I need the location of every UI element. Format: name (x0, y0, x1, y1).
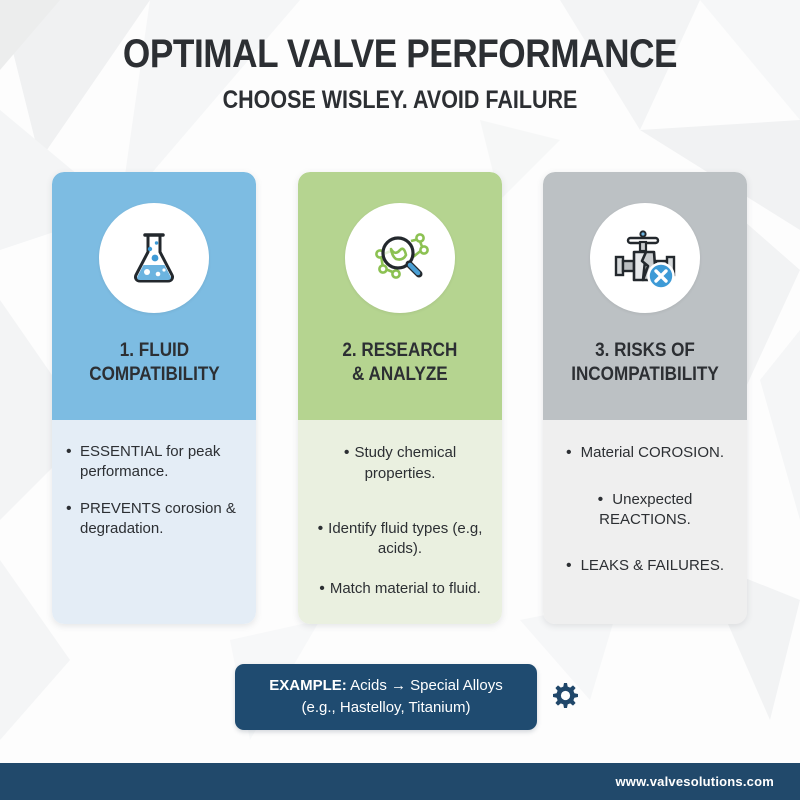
card-title: 1. FLUID COMPATIBILITY (89, 339, 219, 387)
card-fluid-compatibility[interactable]: 1. FLUID COMPATIBILITY ESSENTIAL for pea… (52, 172, 256, 624)
icon-badge (590, 203, 700, 313)
gear-icon (548, 681, 580, 718)
list-item: PREVENTS corosion & degradation. (66, 499, 242, 540)
infographic-canvas: OPTIMAL VALVE PERFORMANCE CHOOSE WISLEY.… (0, 0, 800, 800)
list-item: Identify fluid types (e.g, acids). (312, 518, 488, 560)
page-title: OPTIMAL VALVE PERFORMANCE (48, 34, 752, 74)
bullet-list: Material COROSION. Unexpected REACTIONS.… (557, 442, 733, 577)
example-note: (e.g., Hastelloy, Titanium) (302, 699, 471, 716)
card-risks-incompatibility[interactable]: 3. RISKS OF INCOMPATIBILITY Material COR… (543, 172, 747, 624)
example-label: EXAMPLE: (269, 677, 347, 694)
card-header: 2. RESEARCH & ANALYZE (298, 172, 502, 420)
list-item: Material COROSION. (557, 442, 733, 464)
header: OPTIMAL VALVE PERFORMANCE CHOOSE WISLEY.… (0, 34, 800, 115)
footer-bar: www.valvesolutions.com (0, 763, 800, 800)
card-title: 2. RESEARCH & ANALYZE (343, 339, 458, 387)
example-value: Acids → Special Alloys (347, 677, 503, 694)
flask-icon (123, 227, 185, 289)
broken-valve-icon (610, 225, 680, 291)
example-banner-row: EXAMPLE: Acids → Special Alloys(e.g., Ha… (0, 664, 800, 736)
list-item: Study chemical properties. (312, 442, 488, 484)
bullet-list: Study chemical properties. Identify flui… (312, 442, 488, 599)
icon-badge (99, 203, 209, 313)
magnifier-molecule-icon (367, 225, 433, 291)
card-body: Study chemical properties. Identify flui… (298, 420, 502, 624)
card-body: ESSENTIAL for peak performance. PREVENTS… (52, 420, 256, 624)
page-subtitle: CHOOSE WISLEY. AVOID FAILURE (56, 86, 744, 115)
card-research-analyze[interactable]: 2. RESEARCH & ANALYZE Study chemical pro… (298, 172, 502, 624)
footer-url[interactable]: www.valvesolutions.com (615, 774, 800, 789)
card-body: Material COROSION. Unexpected REACTIONS.… (543, 420, 747, 624)
list-item: LEAKS & FAILURES. (557, 555, 733, 577)
card-header: 1. FLUID COMPATIBILITY (52, 172, 256, 420)
example-banner-text: EXAMPLE: Acids → Special Alloys(e.g., Ha… (269, 675, 502, 719)
list-item: ESSENTIAL for peak performance. (66, 442, 242, 483)
list-item: Unexpected REACTIONS. (557, 489, 733, 531)
list-item: Match material to fluid. (312, 578, 488, 600)
card-title: 3. RISKS OF INCOMPATIBILITY (571, 339, 719, 387)
icon-badge (345, 203, 455, 313)
example-banner[interactable]: EXAMPLE: Acids → Special Alloys(e.g., Ha… (235, 664, 537, 730)
card-header: 3. RISKS OF INCOMPATIBILITY (543, 172, 747, 420)
bullet-list: ESSENTIAL for peak performance. PREVENTS… (66, 442, 242, 539)
cards-row: 1. FLUID COMPATIBILITY ESSENTIAL for pea… (0, 172, 800, 632)
